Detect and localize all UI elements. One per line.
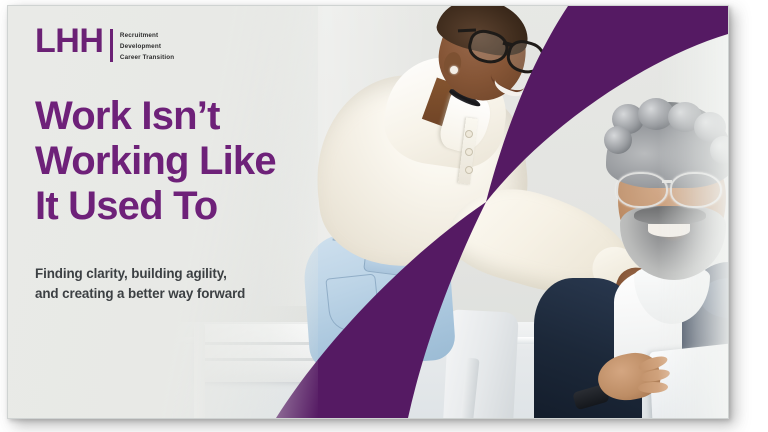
logo-wordmark: LHH	[35, 28, 103, 56]
page-title: Work Isn’t Working Like It Used To	[35, 94, 335, 228]
headline-line-2: Working Like	[35, 139, 335, 184]
logo-tagline-line-3: Career Transition	[120, 52, 174, 63]
logo-tagline: Recruitment Development Career Transitio…	[120, 28, 174, 64]
slide-card: LHH Recruitment Development Career Trans…	[7, 5, 729, 419]
logo-tagline-line-2: Development	[120, 41, 174, 52]
subtitle-line-1: Finding clarity, building agility,	[35, 264, 325, 284]
lhh-logo[interactable]: LHH Recruitment Development Career Trans…	[35, 28, 174, 64]
woman-jacket-button	[465, 148, 473, 156]
woman-earring	[450, 66, 458, 74]
headline-line-3: It Used To	[35, 184, 335, 229]
logo-tagline-line-1: Recruitment	[120, 30, 174, 41]
background-blur	[658, 6, 728, 418]
woman-jeans-pocket	[325, 274, 380, 333]
text-panel: LHH Recruitment Development Career Trans…	[8, 6, 318, 418]
subtitle-line-2: and creating a better way forward	[35, 284, 325, 304]
logo-divider	[110, 29, 113, 62]
page-subtitle: Finding clarity, building agility, and c…	[35, 264, 325, 304]
woman-jacket-button	[465, 166, 473, 174]
man-hair-curl	[604, 126, 632, 154]
headline-line-1: Work Isn’t	[35, 94, 335, 139]
woman-jacket-button	[465, 130, 473, 138]
